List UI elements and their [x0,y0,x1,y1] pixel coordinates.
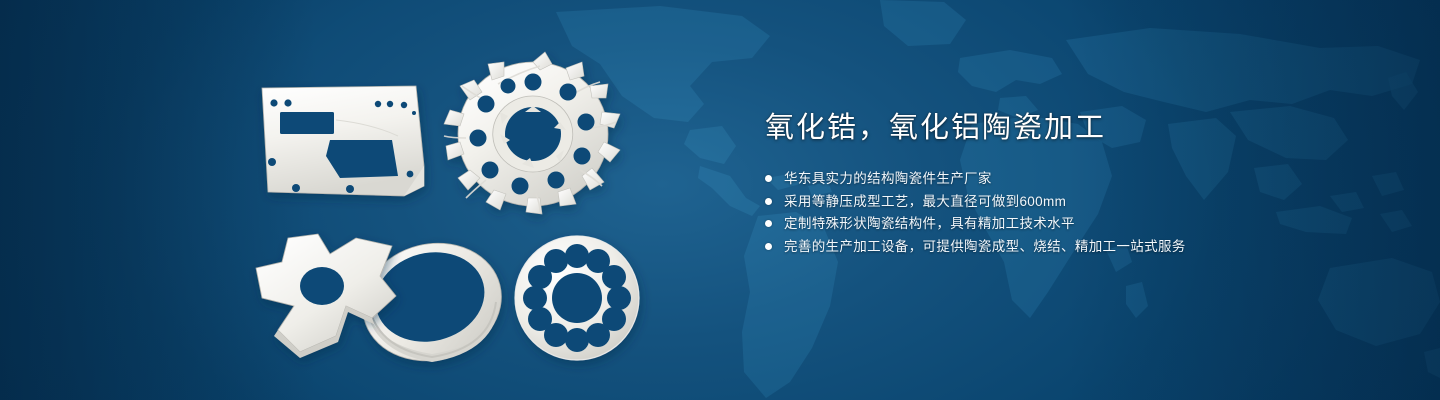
page-title: 氧化锆，氧化铝陶瓷加工 [765,110,1385,146]
ceramic-impeller-disc [444,52,620,214]
bullet-dot-icon [765,243,772,250]
list-item: 定制特殊形状陶瓷结构件，具有精加工技术水平 [765,217,1385,231]
feature-list: 华东具实力的结构陶瓷件生产厂家 采用等静压成型工艺，最大直径可做到600mm 定… [765,172,1385,254]
list-item-label: 采用等静压成型工艺，最大直径可做到600mm [784,194,1066,209]
ceramic-machined-plate [262,86,424,196]
list-item-label: 华东具实力的结构陶瓷件生产厂家 [784,171,992,186]
bullet-dot-icon [765,198,772,205]
list-item: 完善的生产加工设备，可提供陶瓷成型、烧结、精加工一站式服务 [765,240,1385,254]
bullet-dot-icon [765,175,772,182]
ceramic-perforated-flange [515,236,639,360]
bullet-dot-icon [765,220,772,227]
banner-copy: 氧化锆，氧化铝陶瓷加工 华东具实力的结构陶瓷件生产厂家 采用等静压成型工艺，最大… [765,110,1385,254]
list-item-label: 完善的生产加工设备，可提供陶瓷成型、烧结、精加工一站式服务 [784,239,1186,254]
list-item: 华东具实力的结构陶瓷件生产厂家 [765,172,1385,186]
hero-banner: 氧化锆，氧化铝陶瓷加工 华东具实力的结构陶瓷件生产厂家 采用等静压成型工艺，最大… [0,0,1440,400]
list-item-label: 定制特殊形状陶瓷结构件，具有精加工技术水平 [784,216,1075,231]
product-photo-cluster [0,0,740,400]
list-item: 采用等静压成型工艺，最大直径可做到600mm [765,195,1385,209]
